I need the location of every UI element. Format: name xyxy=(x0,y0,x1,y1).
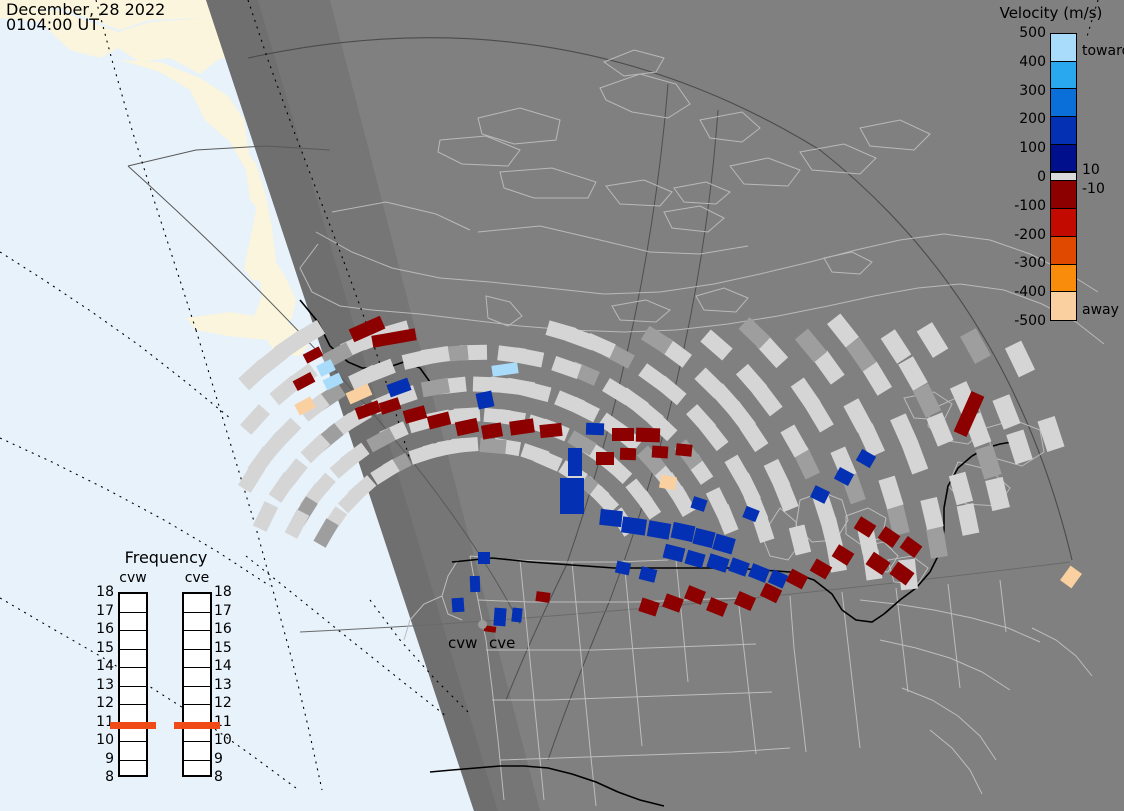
colorbar-segment xyxy=(1051,265,1076,293)
frequency-scale-segment xyxy=(120,742,146,761)
velocity-cell xyxy=(493,608,506,627)
velocity-cell xyxy=(612,428,634,441)
colorbar-away-label: away xyxy=(1082,303,1119,317)
colorbar-segment xyxy=(1051,117,1076,145)
frequency-scale-segment xyxy=(184,687,210,706)
frequency-tick: 14 xyxy=(214,659,232,673)
frequency-marker-cvw xyxy=(110,722,156,729)
colorbar-zero-upper-label: 10 xyxy=(1082,163,1100,177)
colorbar-segment xyxy=(1051,237,1076,265)
ground-scatter-cell xyxy=(483,408,510,424)
frequency-tick: 17 xyxy=(214,604,232,618)
frequency-scale-segment xyxy=(184,761,210,780)
frequency-legend-title: Frequency xyxy=(96,548,236,567)
velocity-cell xyxy=(568,448,582,476)
colorbar-segment xyxy=(1051,145,1076,173)
frequency-tick: 8 xyxy=(214,770,223,784)
colorbar-zero-band xyxy=(1051,172,1076,181)
radar-site-label-cvw: cvw xyxy=(448,634,477,652)
frequency-column-name-cve: cve xyxy=(182,570,212,586)
velocity-cell xyxy=(478,552,490,564)
colorbar-tick: 0 xyxy=(1037,170,1046,184)
frequency-tick: 10 xyxy=(96,733,114,747)
colorbar-segment xyxy=(1051,89,1076,117)
colorbar-segment xyxy=(1051,181,1076,209)
colorbar-segment xyxy=(1051,34,1076,62)
velocity-cell xyxy=(511,608,522,623)
velocity-cell xyxy=(452,598,465,613)
colorbar-gradient xyxy=(1050,33,1077,321)
colorbar-segment xyxy=(1051,62,1076,90)
radar-site-dot-cvw xyxy=(478,620,487,629)
colorbar-segment xyxy=(1051,292,1076,320)
velocity-cell xyxy=(560,478,584,514)
colorbar-tick: -100 xyxy=(1014,199,1046,213)
velocity-cell xyxy=(470,576,481,592)
frequency-scale-segment xyxy=(120,594,146,613)
colorbar-tick: 400 xyxy=(1019,55,1046,69)
colorbar-tick: -300 xyxy=(1014,256,1046,270)
frequency-marker-cve xyxy=(174,722,220,729)
frequency-tick: 13 xyxy=(214,678,232,692)
frequency-column-name-cvw: cvw xyxy=(118,570,148,586)
ground-scatter-cell xyxy=(473,376,501,392)
colorbar-tick: -400 xyxy=(1014,285,1046,299)
frequency-scale-segment xyxy=(184,613,210,632)
timestamp-label: December, 28 2022 0104:00 UT xyxy=(6,2,165,32)
colorbar-tick: 100 xyxy=(1019,141,1046,155)
ground-scatter-cell xyxy=(497,345,526,363)
velocity-cell xyxy=(476,391,495,410)
frequency-tick: 13 xyxy=(96,678,114,692)
frequency-tick: 10 xyxy=(214,733,232,747)
frequency-scale-segment xyxy=(184,668,210,687)
frequency-scale-segment xyxy=(184,631,210,650)
frequency-legend: Frequency cvw cve 1818171716161515141413… xyxy=(96,548,236,788)
velocity-cell xyxy=(599,509,623,527)
frequency-scale-segment xyxy=(120,761,146,780)
frequency-scale-segment xyxy=(184,594,210,613)
frequency-scale-segment xyxy=(184,742,210,761)
frequency-tick: 14 xyxy=(96,659,114,673)
velocity-cell xyxy=(675,443,692,457)
frequency-tick: 18 xyxy=(96,585,114,599)
frequency-bar-cvw xyxy=(118,592,148,777)
frequency-tick: 8 xyxy=(96,770,114,784)
colorbar-tick: 200 xyxy=(1019,112,1046,126)
frequency-scale-segment xyxy=(120,613,146,632)
frequency-tick: 12 xyxy=(214,696,232,710)
frequency-scale-segment xyxy=(184,650,210,669)
colorbar-toward-label: toward xyxy=(1082,44,1124,58)
colorbar-tick: 500 xyxy=(1019,26,1046,40)
velocity-cell xyxy=(621,516,647,535)
colorbar-tick: -200 xyxy=(1014,228,1046,242)
frequency-scale-segment xyxy=(120,668,146,687)
velocity-cell xyxy=(535,591,550,603)
colorbar-tick: -500 xyxy=(1014,314,1046,328)
ground-scatter-cell xyxy=(480,438,507,454)
frequency-tick: 15 xyxy=(96,641,114,655)
colorbar-tick: 300 xyxy=(1019,84,1046,98)
frequency-tick: 9 xyxy=(214,752,223,766)
radar-site-label-cve: cve xyxy=(489,634,515,652)
frequency-scale-segment xyxy=(120,705,146,724)
velocity-cell xyxy=(539,423,562,438)
colorbar-segment xyxy=(1051,209,1076,237)
velocity-cell xyxy=(615,561,631,576)
frequency-scale-segment xyxy=(120,650,146,669)
frequency-tick: 12 xyxy=(96,696,114,710)
frequency-scale-segment xyxy=(120,631,146,650)
velocity-cell xyxy=(659,475,677,491)
frequency-tick: 9 xyxy=(96,752,114,766)
frequency-tick: 17 xyxy=(96,604,114,618)
velocity-cell xyxy=(586,423,604,436)
colorbar-title: Velocity (m/s) xyxy=(978,4,1124,22)
radar-fan-plot: cvw cve December, 28 2022 0104:00 UT Vel… xyxy=(0,0,1124,811)
velocity-colorbar: Velocity (m/s) 5004003002001000-100-200-… xyxy=(975,0,1124,340)
frequency-scale-segment xyxy=(120,687,146,706)
velocity-cell xyxy=(620,448,636,461)
frequency-bar-cve xyxy=(182,592,212,777)
frequency-tick: 16 xyxy=(96,622,114,636)
velocity-cell xyxy=(652,445,669,458)
velocity-cell xyxy=(596,452,614,465)
frequency-scale-segment xyxy=(184,705,210,724)
frequency-tick: 18 xyxy=(214,585,232,599)
velocity-cell xyxy=(636,428,660,443)
frequency-tick: 15 xyxy=(214,641,232,655)
colorbar-zero-lower-label: -10 xyxy=(1082,182,1105,196)
frequency-tick: 16 xyxy=(214,622,232,636)
